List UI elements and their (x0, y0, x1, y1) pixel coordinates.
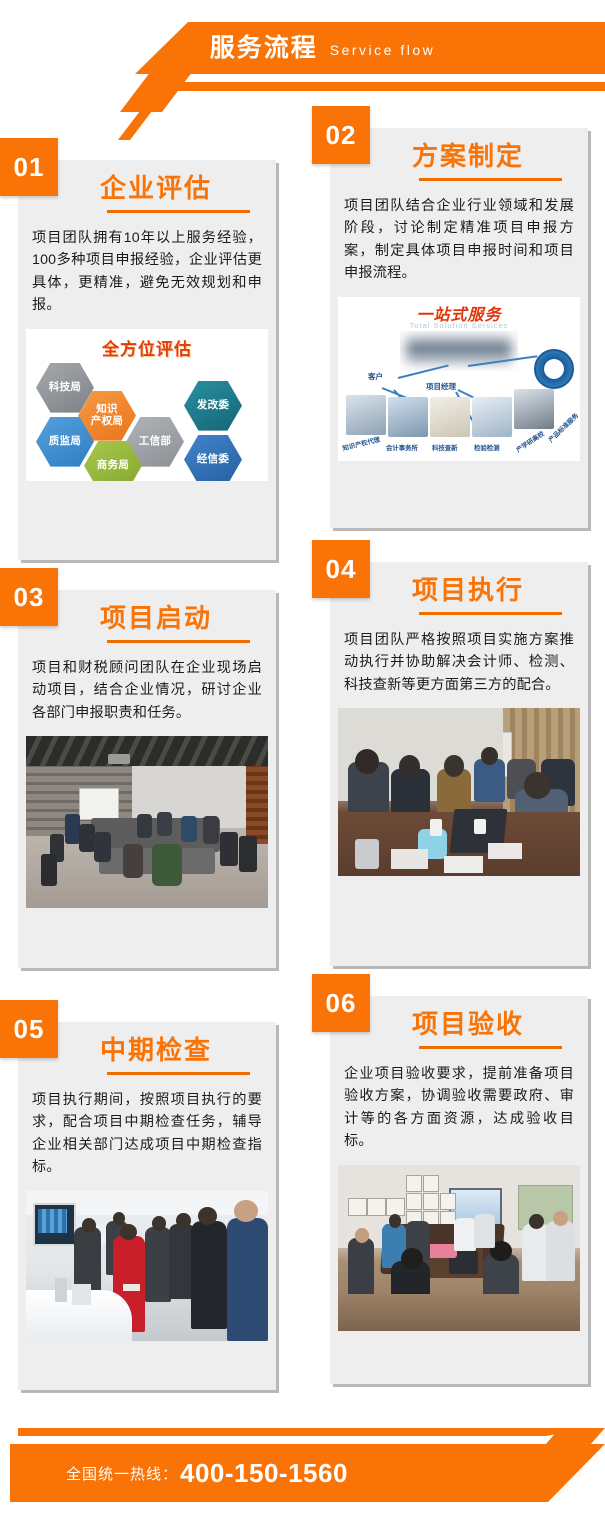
step-card-05[interactable]: 05 中期检查 项目执行期间，按照项目执行的要求，配合项目中期检查任务，辅导企业… (18, 1022, 276, 1390)
step-number-badge: 06 (312, 974, 370, 1032)
one-stop-label-accounting: 会计事务所 (386, 443, 418, 452)
step-card-04[interactable]: 04 项目执行 项目团队严格按照项目实施方案推动执行并协助解决会计师、检测、科技… (330, 562, 588, 966)
working-meeting-photo (338, 708, 580, 876)
step-title: 项目验收 (362, 1010, 574, 1040)
node-photo-novelty (430, 397, 470, 437)
step-title: 项目执行 (362, 576, 574, 606)
step-title: 中期检查 (50, 1036, 262, 1066)
node-photo-ip (346, 395, 386, 435)
one-stop-service-graphic: 一站式服务 Total Solution Services 客户 项目经理 知识… (338, 297, 580, 461)
page-title: 服务流程 (210, 36, 318, 61)
page-footer: 全国统一热线： 400-150-1560 (0, 1418, 605, 1538)
photo-conference-room (26, 736, 268, 908)
step-title: 项目启动 (50, 604, 262, 634)
photo-working-meeting (338, 708, 580, 876)
hexagon-chart: 全方位评估 科技局 知识产权局 质监局 工信部 商务局 发改委 经信委 (26, 329, 268, 481)
one-stop-label-customer: 客户 (368, 371, 383, 382)
step-title: 企业评估 (50, 174, 262, 204)
conference-room-photo (26, 736, 268, 908)
one-stop-label-university: 产学研高校 (514, 428, 546, 453)
one-stop-label-testing: 检验检测 (474, 443, 500, 452)
one-stop-hub-photo (400, 331, 518, 371)
page-header: 服务流程 Service flow (0, 0, 605, 112)
hexagon-chart-title: 全方位评估 (102, 335, 192, 360)
step-number-badge: 03 (0, 568, 58, 626)
header-text-group: 服务流程 Service flow (0, 22, 605, 74)
acceptance-meeting-photo (338, 1165, 580, 1331)
step-card-06[interactable]: 06 项目验收 企业项目验收要求，提前准备项目验收方案，协调验收需要政府、审计等… (330, 996, 588, 1384)
one-stop-label-novelty: 科技查新 (432, 443, 458, 452)
step-number-badge: 05 (0, 1000, 58, 1058)
step-card-01[interactable]: 01 企业评估 项目团队拥有10年以上服务经验，100多种项目申报经验，企业评估… (18, 160, 276, 560)
step-description: 项目团队拥有10年以上服务经验，100多种项目申报经验，企业评估更具体，更精准，… (18, 213, 276, 329)
step-number-badge: 04 (312, 540, 370, 598)
step-description: 项目团队结合企业行业领域和发展阶段，讨论制定精准项目申报方案，制定具体项目申报时… (330, 181, 588, 297)
one-stop-diagram: 一站式服务 Total Solution Services 客户 项目经理 知识… (338, 297, 580, 461)
hexagon-node-jingxin: 经信委 (184, 435, 242, 481)
step-title: 方案制定 (362, 142, 574, 172)
step-description: 项目和财税顾问团队在企业现场启动项目，结合企业情况，研讨企业各部门申报职责和任务… (18, 643, 276, 736)
hexagon-node-fagai: 发改委 (184, 381, 242, 431)
header-underline (148, 82, 605, 91)
photo-showroom-inspection (26, 1191, 268, 1341)
showroom-inspection-photo (26, 1191, 268, 1341)
page-subtitle: Service flow (330, 43, 435, 57)
photo-acceptance-meeting (338, 1165, 580, 1331)
step-number-badge: 02 (312, 106, 370, 164)
certification-seal-icon (534, 349, 574, 389)
hexagon-evaluation-graphic: 全方位评估 科技局 知识产权局 质监局 工信部 商务局 发改委 经信委 (26, 329, 268, 481)
one-stop-label-ip: 知识产权代理 (341, 434, 380, 452)
one-stop-label-manager: 项目经理 (426, 381, 456, 392)
hotline-label: 全国统一热线： (66, 1463, 178, 1484)
node-photo-testing (472, 397, 512, 437)
step-number-badge: 01 (0, 138, 58, 196)
step-description: 项目团队严格按照项目实施方案推动执行并协助解决会计师、检测、科技查新等更方面第三… (330, 615, 588, 708)
step-description: 企业项目验收要求，提前准备项目验收方案，协调验收需要政府、审计等的各方面资源，达… (330, 1049, 588, 1165)
step-card-02[interactable]: 02 方案制定 项目团队结合企业行业领域和发展阶段，讨论制定精准项目申报方案，制… (330, 128, 588, 528)
hotline-number[interactable]: 400-150-1560 (180, 1458, 348, 1489)
node-photo-university (514, 389, 554, 429)
one-stop-subtitle: Total Solution Services (410, 321, 509, 330)
step-card-03[interactable]: 03 项目启动 项目和财税顾问团队在企业现场启动项目，结合企业情况，研讨企业各部… (18, 590, 276, 968)
footer-top-line (18, 1428, 588, 1436)
footer-contact: 全国统一热线： 400-150-1560 (10, 1444, 605, 1502)
node-photo-accounting (388, 397, 428, 437)
step-description: 项目执行期间，按照项目执行的要求，配合项目中期检查任务，辅导企业相关部门达成项目… (18, 1075, 276, 1191)
